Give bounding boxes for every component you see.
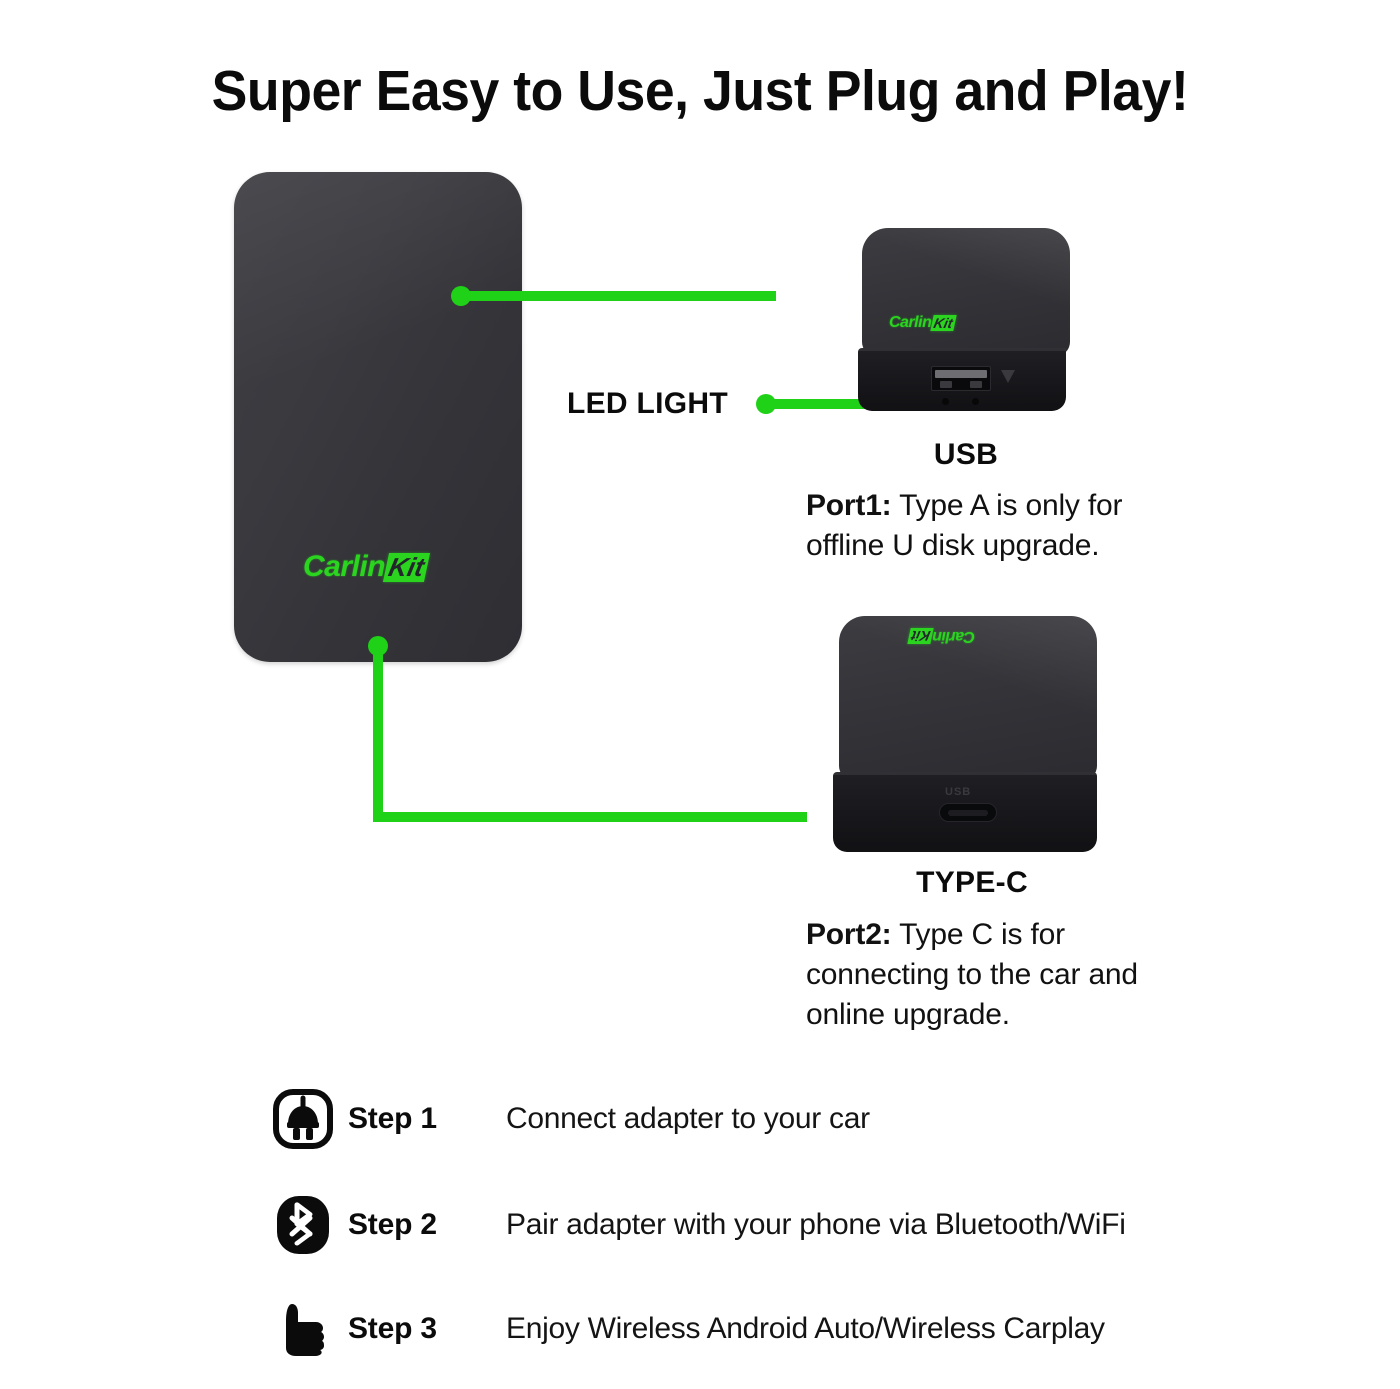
device-front-face bbox=[858, 348, 1066, 411]
logo-badge: Kit bbox=[931, 315, 957, 331]
power-plug-icon bbox=[268, 1084, 338, 1154]
infographic-page: Super Easy to Use, Just Plug and Play! C… bbox=[0, 0, 1400, 1389]
thumbs-up-icon bbox=[268, 1294, 338, 1364]
typec-heading: TYPE-C bbox=[772, 866, 1172, 900]
led-light-label: LED LIGHT bbox=[567, 387, 728, 421]
step-text: Enjoy Wireless Android Auto/Wireless Car… bbox=[506, 1312, 1105, 1346]
logo-badge: Kit bbox=[907, 628, 933, 644]
step-row: Step 2 Pair adapter with your phone via … bbox=[268, 1188, 1126, 1262]
usb-contact bbox=[970, 381, 982, 388]
usb-insert-bar bbox=[935, 370, 987, 378]
step-label: Step 3 bbox=[348, 1312, 506, 1346]
device-front-face: USB bbox=[833, 772, 1097, 852]
logo-badge: Kit bbox=[383, 553, 430, 582]
usb-port-prefix: Port1: bbox=[806, 489, 891, 522]
usb-c-tongue bbox=[948, 810, 988, 816]
carlinkit-logo-usb-device: CarlinKit bbox=[889, 315, 955, 331]
usb-orientation-arrow-icon bbox=[1001, 370, 1015, 383]
logo-word: Carlin bbox=[933, 628, 975, 644]
typec-description: Port2: Type C is for connecting to the c… bbox=[806, 915, 1206, 1035]
callout-line-horizontal bbox=[373, 812, 807, 822]
step-label: Step 1 bbox=[348, 1102, 506, 1136]
usb-c-port bbox=[939, 803, 997, 822]
device-top-face bbox=[862, 228, 1070, 356]
usb-a-port bbox=[931, 366, 991, 391]
step-text: Connect adapter to your car bbox=[506, 1102, 870, 1136]
usb-description: Port1: Type A is only for offline U disk… bbox=[806, 486, 1206, 566]
typec-port-prefix: Port2: bbox=[806, 918, 891, 951]
main-adapter-device bbox=[234, 172, 522, 662]
logo-word: Carlin bbox=[889, 315, 931, 331]
typec-port-device: USB bbox=[833, 616, 1097, 852]
typec-port-marking: USB bbox=[945, 786, 971, 798]
bluetooth-icon bbox=[268, 1190, 338, 1260]
device-vent-hole bbox=[942, 398, 949, 405]
step-row: Step 3 Enjoy Wireless Android Auto/Wirel… bbox=[268, 1292, 1105, 1366]
step-row: Step 1 Connect adapter to your car bbox=[268, 1082, 870, 1156]
callout-line-vertical bbox=[373, 646, 383, 822]
usb-contact bbox=[940, 381, 952, 388]
page-title: Super Easy to Use, Just Plug and Play! bbox=[42, 58, 1358, 124]
usb-heading: USB bbox=[766, 438, 1166, 472]
carlinkit-logo-typec-device: CarlinKit bbox=[909, 628, 975, 644]
callout-line bbox=[461, 291, 776, 301]
step-text: Pair adapter with your phone via Bluetoo… bbox=[506, 1208, 1126, 1242]
device-vent-hole bbox=[972, 398, 979, 405]
step-label: Step 2 bbox=[348, 1208, 506, 1242]
logo-word: Carlin bbox=[303, 552, 385, 582]
carlinkit-logo-main: CarlinKit bbox=[303, 552, 427, 582]
